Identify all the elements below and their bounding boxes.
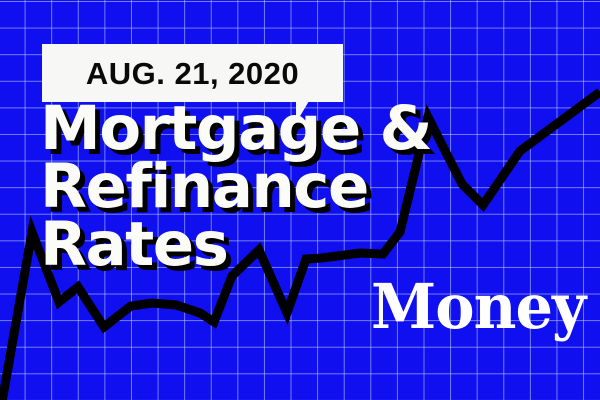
headline-line-1: Mortgage & [40,100,431,158]
money-rates-promo-card: AUG. 21, 2020 Mortgage & Refinance Rates… [0,0,600,400]
date-badge-label: AUG. 21, 2020 [86,58,299,89]
headline-line-3: Rates [40,216,431,274]
money-brand-logo: Money [371,276,585,338]
page-title: Mortgage & Refinance Rates [40,100,431,274]
headline-line-2: Refinance [40,158,431,216]
